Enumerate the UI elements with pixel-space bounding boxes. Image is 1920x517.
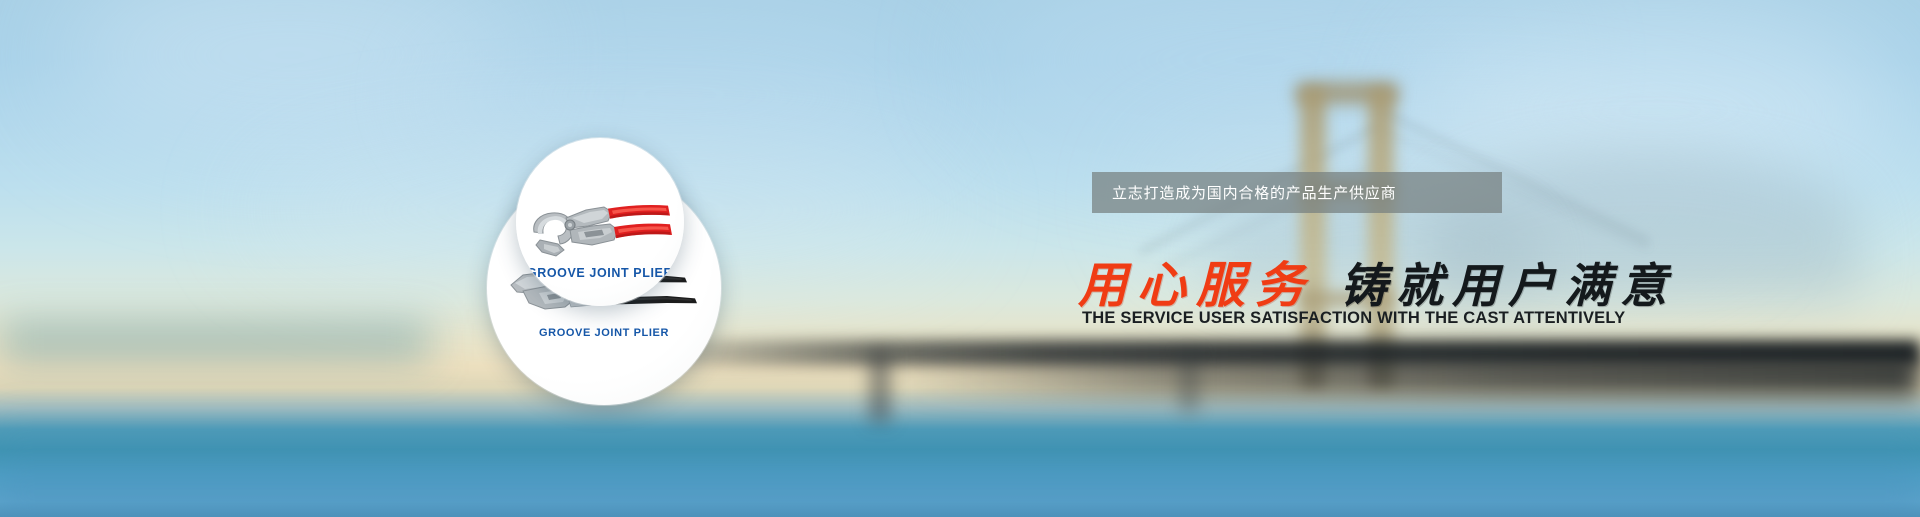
slogan-secondary: 铸就用户满意 [1340,247,1676,316]
product-circle-2[interactable]: GROOVE JOINT PLIER [516,138,684,306]
tagline-text: 立志打造成为国内合格的产品生产供应商 [1092,182,1396,203]
groove-joint-plier-red-handle-icon [530,190,672,270]
hero-banner: GROOVE JOINT PLIER [0,0,1920,517]
bridge-deck-shadow [900,356,1920,396]
tagline-box: 立志打造成为国内合格的产品生产供应商 [1092,172,1502,213]
slogan-primary: 用心服务 [1078,246,1314,317]
water-surface-haze [0,400,1920,517]
product-circle-2-label: GROOVE JOINT PLIER [516,266,684,280]
subtitle-english: THE SERVICE USER SATISFACTION WITH THE C… [1082,309,1625,328]
cloud-blur-2 [420,20,940,170]
slogan-row: 用心服务 铸就用户满意 [1078,246,1676,317]
product-circle-1-label: GROOVE JOINT PLIER [487,327,721,339]
water-haze-left [0,322,430,362]
